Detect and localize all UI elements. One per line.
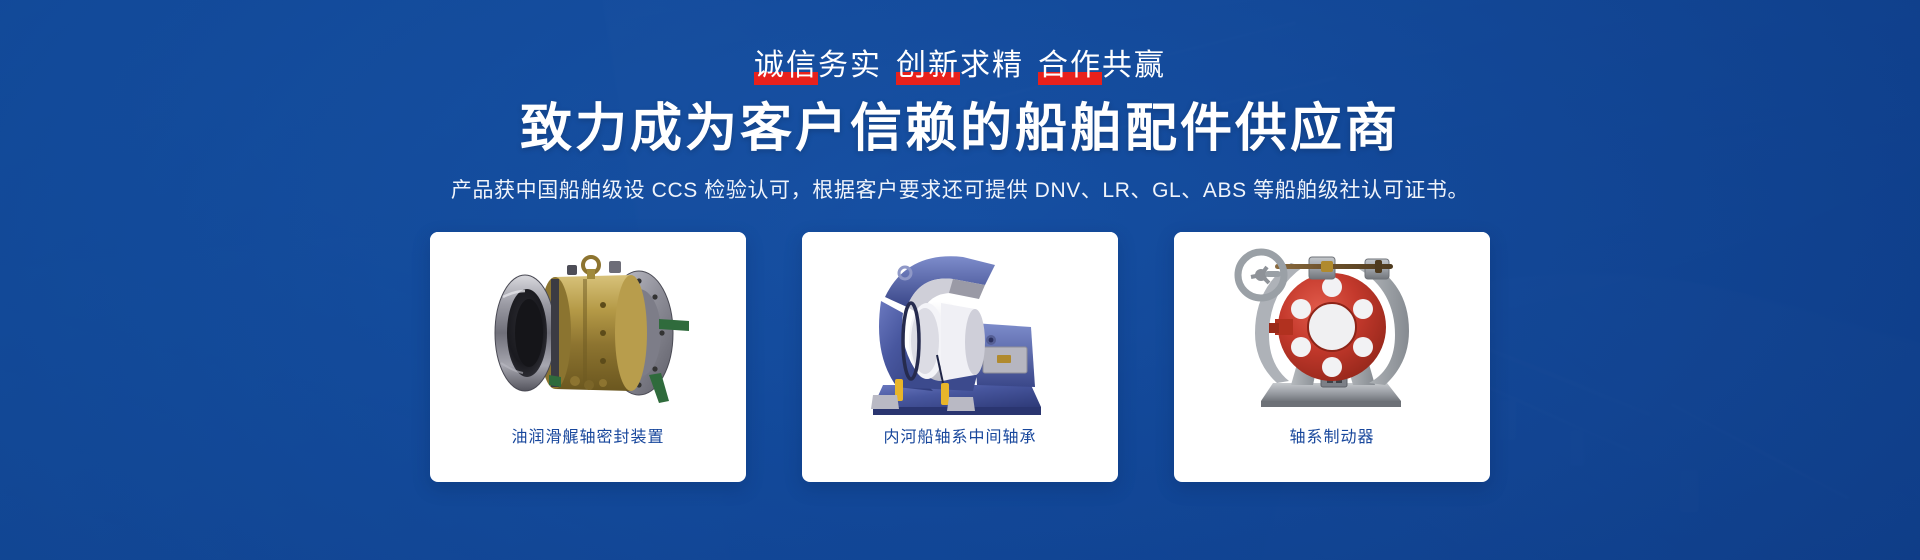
product-card-list: 油润滑艉轴密封装置 bbox=[0, 232, 1920, 482]
tagline-highlight-2: 创新 bbox=[896, 48, 960, 84]
tagline-highlight-1: 诚信 bbox=[754, 48, 818, 84]
banner-headline: 致力成为客户信赖的船舶配件供应商 bbox=[0, 98, 1920, 160]
tagline-plain-2: 求精 bbox=[960, 49, 1024, 82]
product-card[interactable]: 轴系制动器 bbox=[1174, 232, 1490, 482]
oil-lubricated-stern-shaft-seal-photo bbox=[463, 235, 713, 425]
tagline-highlight-3: 合作 bbox=[1038, 48, 1102, 84]
inland-vessel-intermediate-bearing-photo bbox=[845, 235, 1075, 425]
product-card[interactable]: 油润滑艉轴密封装置 bbox=[430, 232, 746, 482]
banner-content: 诚信务实创新求精合作共赢 致力成为客户信赖的船舶配件供应商 产品获中国船舶级设 … bbox=[0, 0, 1920, 482]
product-label: 轴系制动器 bbox=[1289, 428, 1374, 448]
banner-subline: 产品获中国船舶级设 CCS 检验认可，根据客户要求还可提供 DNV、LR、GL、… bbox=[0, 176, 1920, 206]
product-image-wrapper bbox=[430, 232, 746, 428]
tagline-plain-1: 务实 bbox=[818, 49, 882, 82]
product-label: 油润滑艉轴密封装置 bbox=[511, 428, 664, 448]
product-image-wrapper bbox=[1174, 232, 1490, 428]
shafting-brake-photo bbox=[1217, 235, 1447, 425]
product-label: 内河船轴系中间轴承 bbox=[883, 428, 1036, 448]
tagline-plain-3: 共赢 bbox=[1102, 49, 1166, 82]
product-image-wrapper bbox=[802, 232, 1118, 428]
banner-tagline: 诚信务实创新求精合作共赢 bbox=[754, 48, 1166, 84]
hero-banner: 诚信务实创新求精合作共赢 致力成为客户信赖的船舶配件供应商 产品获中国船舶级设 … bbox=[0, 0, 1920, 560]
product-card[interactable]: 内河船轴系中间轴承 bbox=[802, 232, 1118, 482]
